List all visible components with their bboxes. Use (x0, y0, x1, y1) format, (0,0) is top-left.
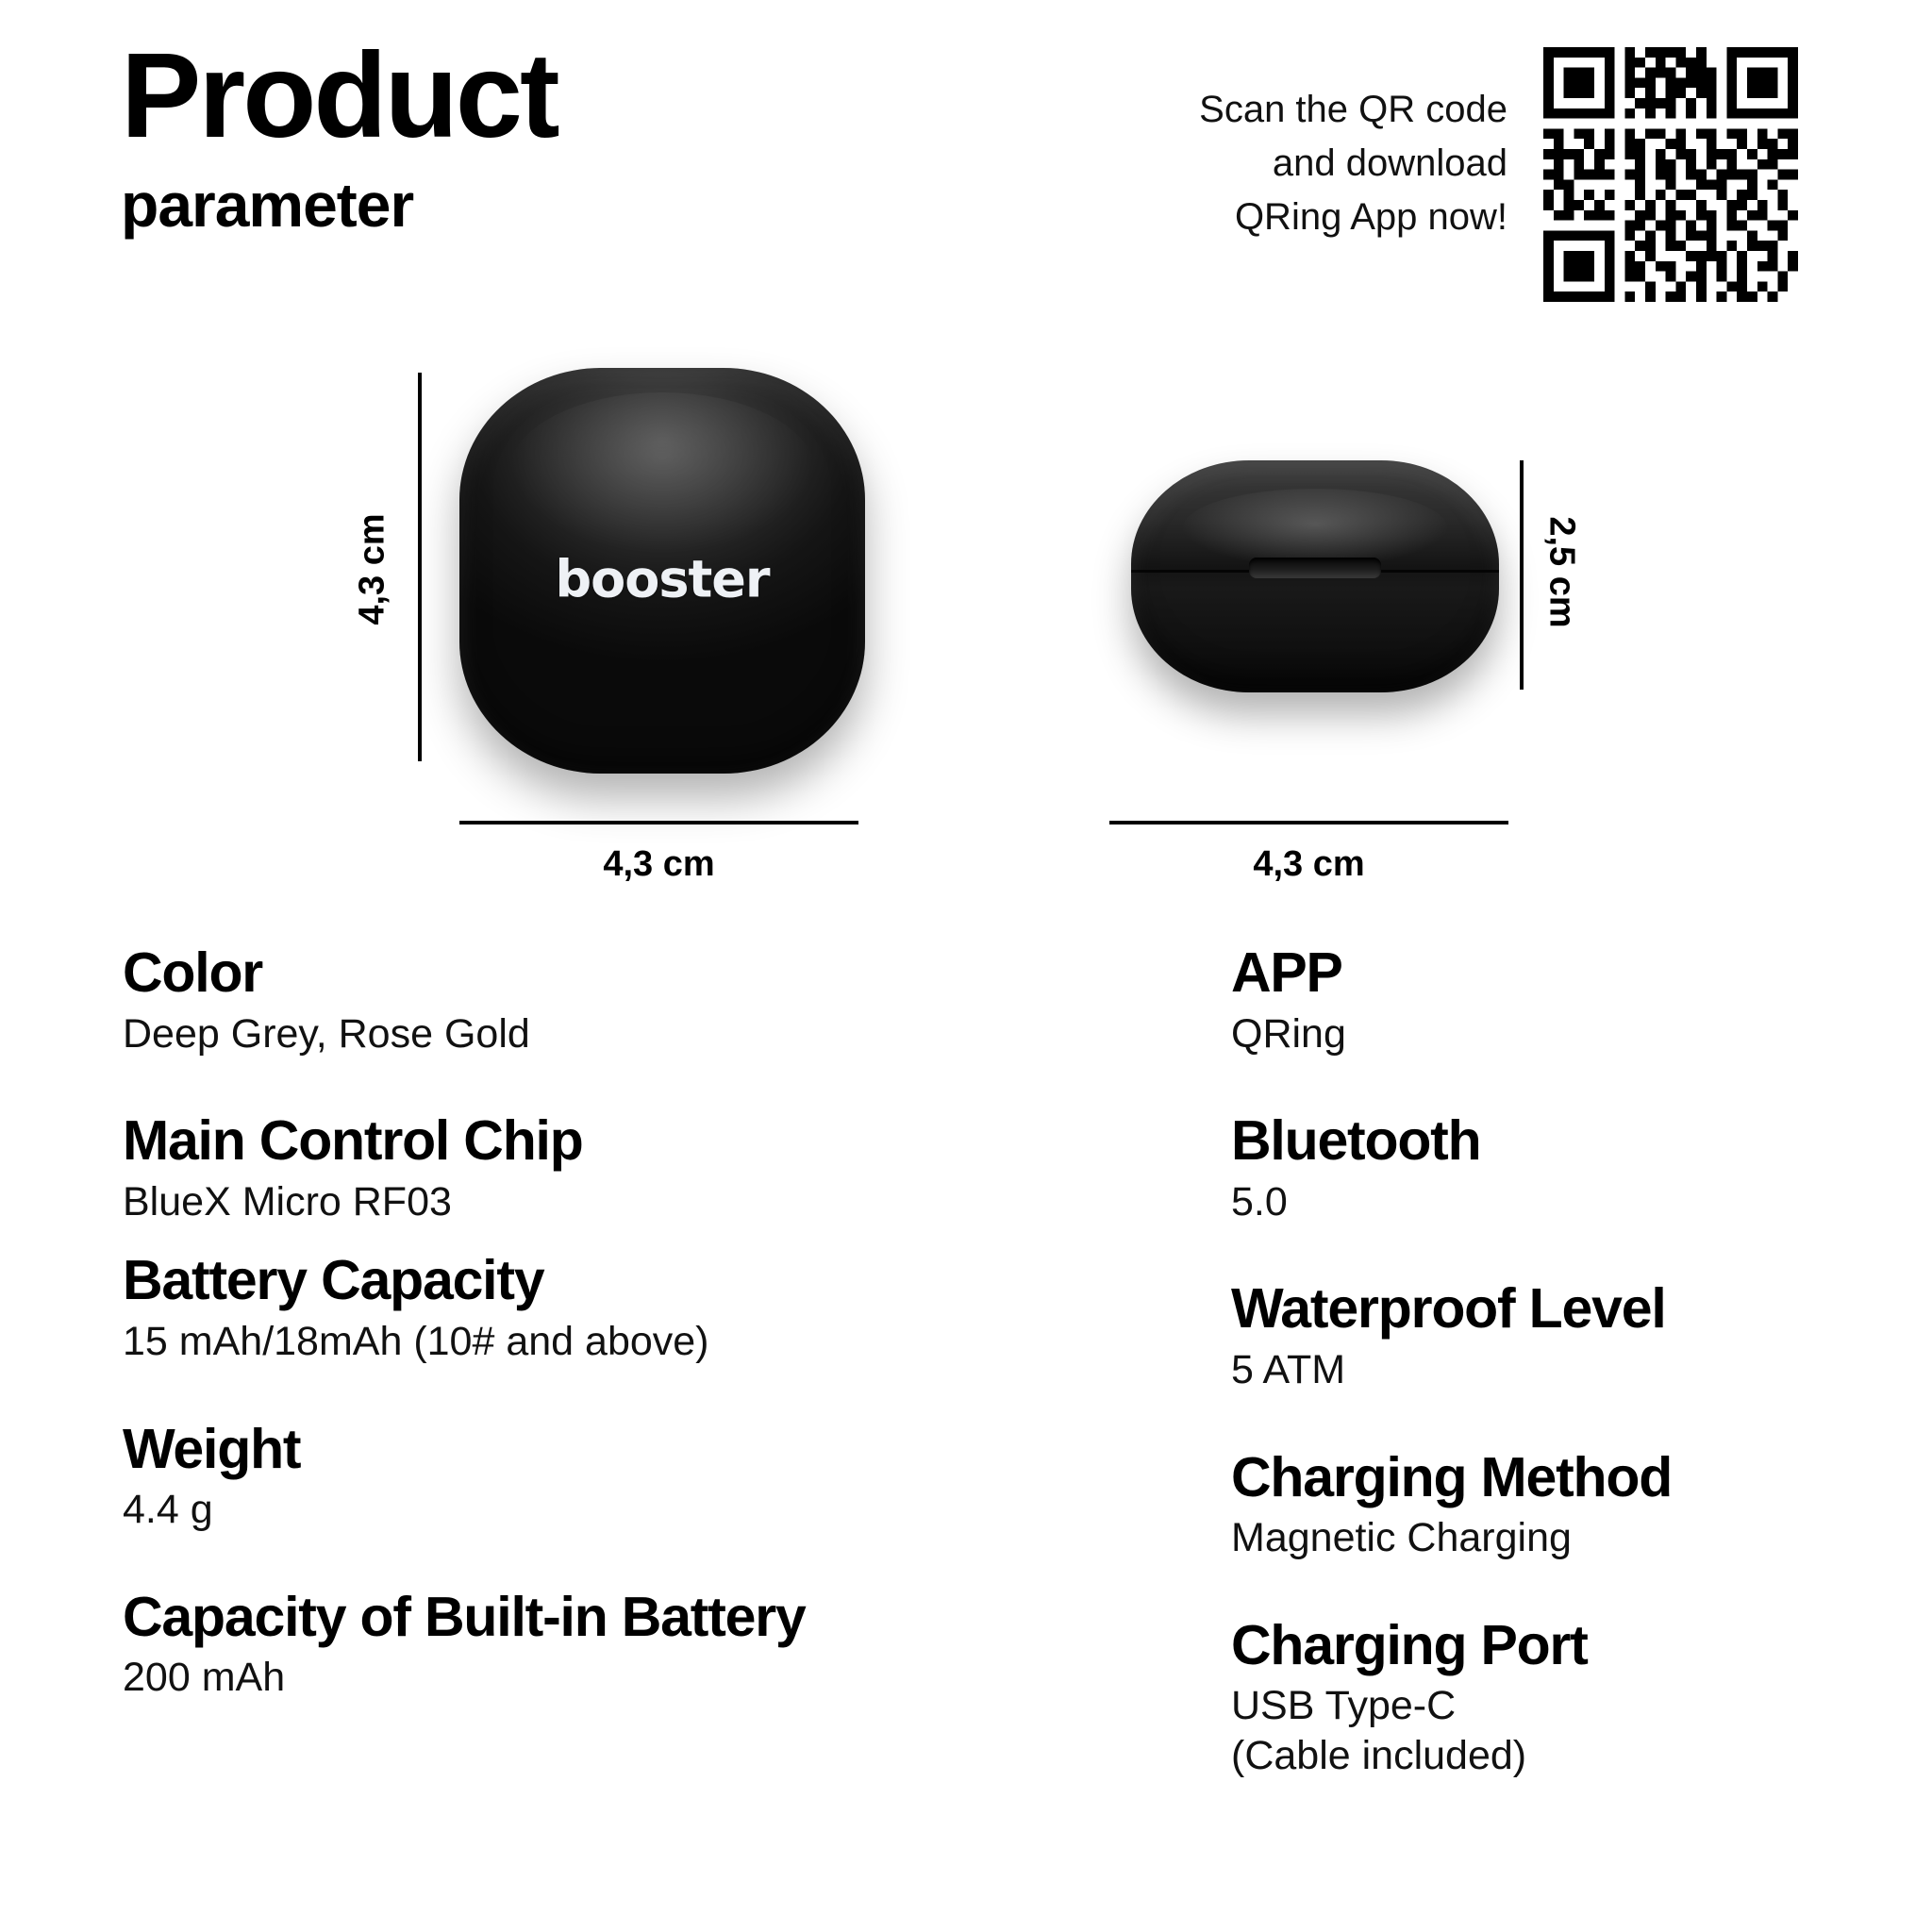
spec-row-waterproof-level: Waterproof Level 5 ATM (1231, 1279, 1891, 1394)
page-title: Product parameter (121, 36, 558, 236)
charging-case-side-view (1131, 460, 1499, 692)
spec-row-main-control-chip: Main Control Chip BlueX Micro RF03 (123, 1111, 1009, 1226)
spec-label-bluetooth: Bluetooth (1231, 1111, 1891, 1172)
spec-value-waterproof-level: 5 ATM (1231, 1345, 1891, 1394)
spec-label-color: Color (123, 943, 1009, 1004)
spec-row-bluetooth: Bluetooth 5.0 (1231, 1111, 1891, 1226)
spec-row-weight: Weight 4.4 g (123, 1420, 1009, 1535)
spec-value-builtin-battery: 200 mAh (123, 1653, 1009, 1702)
top-view-width-rule (459, 821, 858, 824)
side-view-height-rule (1520, 460, 1524, 690)
spec-label-main-control-chip: Main Control Chip (123, 1111, 1009, 1172)
case-side-highlight (1183, 489, 1448, 568)
spec-value-weight: 4.4 g (123, 1485, 1009, 1534)
product-images: booster 4,3 cm 4,3 cm 2,5 cm 4,3 cm (0, 349, 1932, 915)
spec-value-color: Deep Grey, Rose Gold (123, 1009, 1009, 1058)
qr-instruction-line-3: QRing App now! (1036, 191, 1507, 244)
spec-column-right: APP QRing Bluetooth 5.0 Waterproof Level… (1231, 943, 1891, 1780)
case-side-notch (1249, 558, 1381, 578)
top-view-height-label: 4,3 cm (353, 504, 393, 636)
spec-row-color: Color Deep Grey, Rose Gold (123, 943, 1009, 1058)
spec-row-battery-capacity: Battery Capacity 15 mAh/18mAh (10# and a… (123, 1251, 1009, 1366)
booster-logo: booster (459, 549, 865, 608)
spec-label-weight: Weight (123, 1420, 1009, 1480)
spec-label-charging-port: Charging Port (1231, 1616, 1891, 1676)
side-view-width-rule (1109, 821, 1508, 824)
spec-value-charging-port: USB Type-C (Cable included) (1231, 1681, 1891, 1780)
spec-value-charging-port-line1: USB Type-C (1231, 1681, 1891, 1730)
qr-instruction-text: Scan the QR code and download QRing App … (1036, 83, 1507, 243)
top-view-width-label: 4,3 cm (459, 844, 858, 885)
spec-row-charging-port: Charging Port USB Type-C (Cable included… (1231, 1616, 1891, 1781)
title-main: Product (121, 36, 558, 157)
qr-instruction-line-1: Scan the QR code (1036, 83, 1507, 137)
spec-row-builtin-battery: Capacity of Built-in Battery 200 mAh (123, 1588, 1009, 1703)
spec-value-bluetooth: 5.0 (1231, 1177, 1891, 1226)
title-sub: parameter (121, 174, 558, 236)
spec-row-charging-method: Charging Method Magnetic Charging (1231, 1448, 1891, 1563)
qr-instruction-line-2: and download (1036, 137, 1507, 191)
product-parameter-sheet: Product parameter Scan the QR code and d… (0, 0, 1932, 1932)
spec-value-main-control-chip: BlueX Micro RF03 (123, 1177, 1009, 1226)
spec-label-builtin-battery: Capacity of Built-in Battery (123, 1588, 1009, 1648)
side-view-height-label: 2,5 cm (1541, 507, 1582, 639)
spec-value-charging-method: Magnetic Charging (1231, 1513, 1891, 1562)
side-view-width-label: 4,3 cm (1109, 844, 1508, 885)
top-view-height-rule (418, 373, 422, 761)
spec-label-app: APP (1231, 943, 1891, 1004)
spec-column-left: Color Deep Grey, Rose Gold Main Control … (123, 943, 1009, 1703)
spec-label-waterproof-level: Waterproof Level (1231, 1279, 1891, 1340)
spec-label-charging-method: Charging Method (1231, 1448, 1891, 1508)
case-side-body (1131, 460, 1499, 692)
spec-value-charging-port-line2: (Cable included) (1231, 1731, 1891, 1780)
spec-row-app: APP QRing (1231, 943, 1891, 1058)
qr-code-icon[interactable] (1543, 47, 1798, 302)
spec-value-battery-capacity: 15 mAh/18mAh (10# and above) (123, 1317, 1009, 1366)
spec-label-battery-capacity: Battery Capacity (123, 1251, 1009, 1311)
spec-value-app: QRing (1231, 1009, 1891, 1058)
charging-case-top-view: booster (459, 368, 865, 774)
